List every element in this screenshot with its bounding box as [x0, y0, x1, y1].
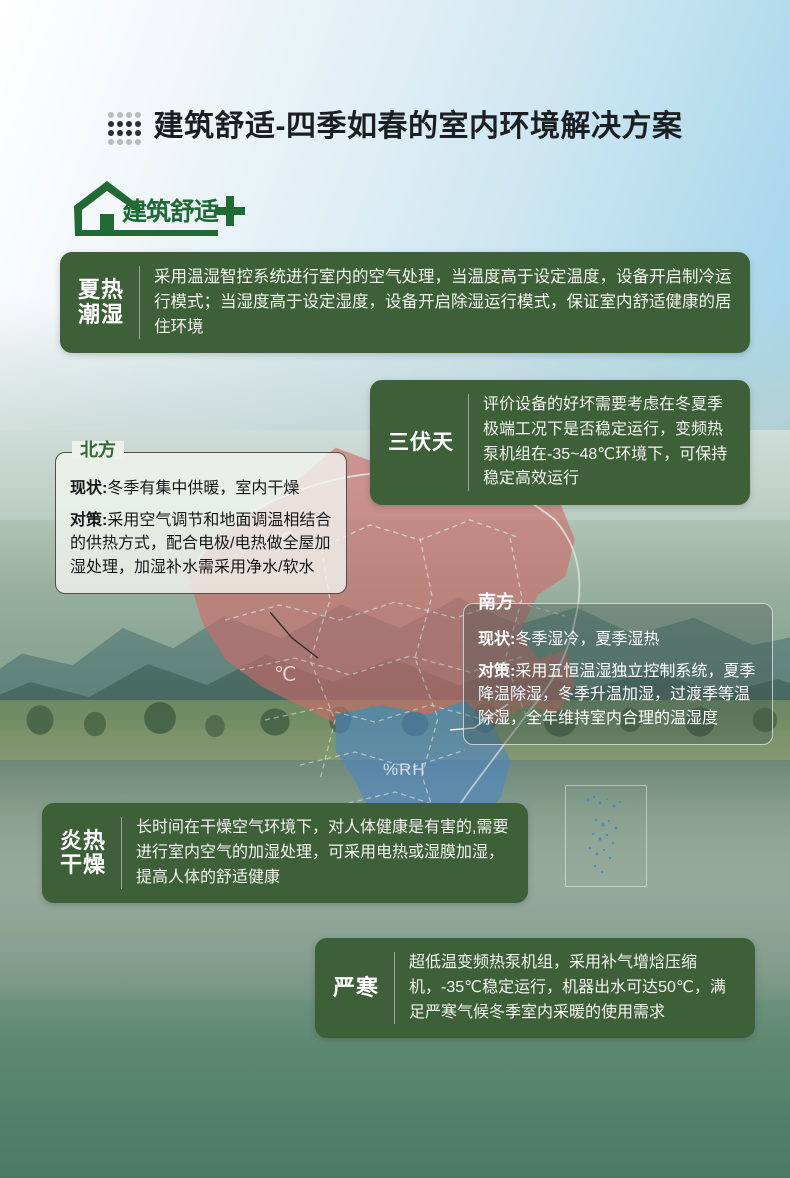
page-header: 建筑舒适-四季如春的室内环境解决方案: [0, 92, 790, 162]
callout-north-status-value: 冬季有集中供暖，室内干燥: [107, 480, 299, 497]
callout-south-status-value: 冬季湿冷，夏季湿热: [515, 631, 659, 648]
callout-south-measure-value: 采用五恒温湿独立控制系统，夏季降温除湿，冬季升温加湿，过渡季等温除湿，全年维持室…: [478, 663, 755, 727]
panel-severe-cold-title: 严寒: [315, 976, 394, 1001]
callout-north-measure-key: 对策:: [70, 512, 107, 529]
panel-severe-cold-body: 超低温变频热泵机组，采用补气增焓压缩机，-35℃稳定运行，机器出水可达50℃，满…: [395, 938, 755, 1038]
callout-north: 北方 现状:冬季有集中供暖，室内干燥 对策:采用空气调节和地面调温相结合的供热方…: [55, 452, 347, 594]
callout-south-measure-key: 对策:: [478, 663, 515, 680]
callout-north-measure-value: 采用空气调节和地面调温相结合的供热方式，配合电极/电热做全屋加湿处理，加湿补水需…: [70, 512, 331, 576]
panel-summer-humid: 夏热 潮湿 采用温湿智控系统进行室内的空气处理，当温度高于设定温度，设备开启制冷…: [60, 252, 750, 353]
house-logo-icon: 建筑舒适: [66, 176, 266, 238]
panel-dogdays: 三伏天 评价设备的好坏需要考虑在冬夏季极端工况下是否稳定运行，变频热泵机组在-3…: [370, 380, 750, 505]
poster-root: ℃ ℃ %RH 建筑舒适-四季如春的室内环境解决方案: [0, 0, 790, 1178]
callout-north-label: 北方: [72, 441, 124, 459]
panel-summer-humid-body: 采用温湿智控系统进行室内的空气处理，当温度高于设定温度，设备开启制冷运行模式；当…: [140, 252, 750, 353]
panel-hot-dry: 炎热 干燥 长时间在干燥空气环境下，对人体健康是有害的,需要进行室内空气的加湿处…: [42, 803, 528, 903]
north-callout-leader-line: [270, 612, 400, 672]
panel-hot-dry-title: 炎热 干燥: [42, 829, 121, 878]
callout-north-status-key: 现状:: [70, 480, 107, 497]
callout-south-label: 南方: [478, 593, 522, 611]
panel-severe-cold: 严寒 超低温变频热泵机组，采用补气增焓压缩机，-35℃稳定运行，机器出水可达50…: [315, 938, 755, 1038]
panel-summer-humid-title: 夏热 潮湿: [60, 278, 139, 327]
logo-plus-icon: [215, 196, 245, 226]
callout-south: 南方 现状:冬季湿冷，夏季湿热 对策:采用五恒温湿独立控制系统，夏季降温除湿，冬…: [463, 603, 773, 745]
south-sea-islands-icon: [566, 786, 646, 886]
callout-south-status-key: 现状:: [478, 631, 515, 648]
panel-dogdays-title: 三伏天: [370, 431, 468, 455]
callout-south-status: 现状:冬季湿冷，夏季湿热: [478, 628, 758, 652]
brand-logo: 建筑舒适: [66, 176, 266, 238]
callout-north-measure: 对策:采用空气调节和地面调温相结合的供热方式，配合电极/电热做全屋加湿处理，加湿…: [70, 509, 332, 580]
callout-south-measure: 对策:采用五恒温湿独立控制系统，夏季降温除湿，冬季升温加湿，过渡季等温除湿，全年…: [478, 660, 758, 731]
south-sea-inset-box: [565, 785, 647, 887]
logo-text: 建筑舒适: [122, 197, 219, 226]
map-watermark-humidity: %RH: [383, 760, 426, 780]
callout-north-status: 现状:冬季有集中供暖，室内干燥: [70, 477, 332, 501]
panel-hot-dry-body: 长时间在干燥空气环境下，对人体健康是有害的,需要进行室内空气的加湿处理，可采用电…: [122, 803, 528, 903]
dot-grid-icon: [108, 112, 141, 145]
panel-dogdays-body: 评价设备的好坏需要考虑在冬夏季极端工况下是否稳定运行，变频热泵机组在-35~48…: [469, 380, 750, 505]
page-title: 建筑舒适-四季如春的室内环境解决方案: [154, 112, 683, 142]
